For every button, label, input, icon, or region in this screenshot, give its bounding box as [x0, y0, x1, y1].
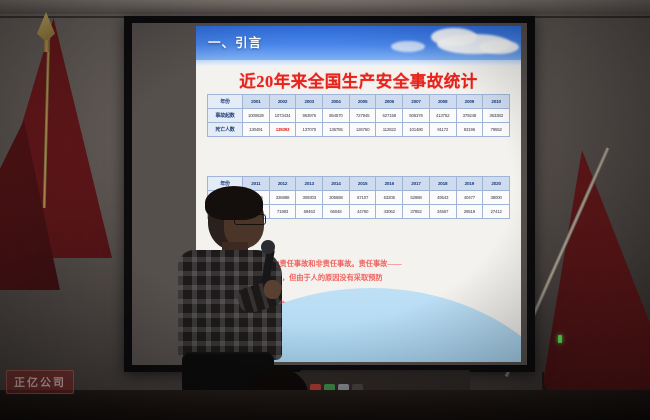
year-cell: 2015 — [349, 177, 376, 191]
slide-section-label: 一、引言 — [208, 32, 262, 51]
value-cell: 37852 — [403, 205, 430, 219]
value-cell: 66048 — [323, 205, 350, 219]
value-cell: 627158 — [376, 109, 403, 123]
presenter-speaker — [172, 188, 298, 388]
value-cell: 506376 — [403, 109, 430, 123]
value-cell: 136755 — [323, 123, 350, 137]
value-cell: 52988 — [403, 191, 430, 205]
value-cell: 1000629 — [243, 109, 270, 123]
value-cell: 854570 — [323, 109, 350, 123]
year-cell: 2013 — [296, 177, 323, 191]
year-cell: 2009 — [456, 95, 483, 109]
year-cell: 2008 — [429, 95, 456, 109]
value-cell: 137070 — [296, 123, 323, 137]
value-cell: 309303 — [296, 191, 323, 205]
value-cell: 29519 — [456, 205, 483, 219]
year-cell: 2001 — [243, 95, 270, 109]
row-header-deaths: 死亡人数 — [208, 123, 243, 137]
photo-scene: 一、引言 近20年来全国生产安全事故统计 年份 2001 2002 2003 2… — [0, 0, 650, 420]
ceiling-trim — [0, 0, 650, 14]
value-cell: 126760 — [349, 123, 376, 137]
value-cell: 130491 — [243, 123, 270, 137]
slide-header-band — [196, 60, 521, 66]
foreground-furniture — [0, 390, 650, 420]
value-cell: 44760 — [349, 205, 376, 219]
status-led-indicator — [558, 335, 562, 343]
value-cell: 34567 — [429, 205, 456, 219]
year-cell: 2005 — [349, 95, 376, 109]
value-cell: 83196 — [456, 123, 483, 137]
finial-collar — [43, 40, 50, 52]
year-cell: 2003 — [296, 95, 323, 109]
value-cell: 101480 — [403, 123, 430, 137]
year-cell: 2010 — [483, 95, 510, 109]
slide-title: 近20年来全国生产安全事故统计 — [196, 68, 521, 92]
cloud-icon — [479, 40, 519, 54]
presenter-hand — [264, 280, 281, 299]
year-cell: 2007 — [403, 95, 430, 109]
value-cell: 963976 — [296, 109, 323, 123]
value-cell: 79552 — [483, 123, 510, 137]
value-cell: 379248 — [456, 109, 483, 123]
table-row: 事故起数 1000629 1073434 963976 854570 72794… — [208, 109, 510, 123]
statistics-table-2001-2010: 年份 2001 2002 2003 2004 2005 2006 2007 20… — [207, 94, 510, 137]
microphone-capsule — [261, 240, 275, 254]
value-cell: 40477 — [456, 191, 483, 205]
year-cell: 2002 — [269, 95, 296, 109]
glasses-icon — [234, 214, 266, 225]
value-cell: 91172 — [429, 123, 456, 137]
value-cell: 27412 — [483, 205, 510, 219]
photo-watermark: 正亿公司 — [6, 370, 74, 394]
value-cell: 67107 — [349, 191, 376, 205]
value-cell: 363383 — [483, 109, 510, 123]
value-cell: 63205 — [376, 191, 403, 205]
row-header-accidents: 事故起数 — [208, 109, 243, 123]
value-cell: 1073434 — [269, 109, 296, 123]
year-cell: 2019 — [456, 177, 483, 191]
cloud-icon — [391, 41, 425, 52]
year-cell: 2004 — [323, 95, 350, 109]
year-cell: 2017 — [403, 177, 430, 191]
value-cell-highlighted: 139393 — [269, 123, 296, 137]
value-cell: 305688 — [323, 191, 350, 205]
value-cell: 38000 — [483, 191, 510, 205]
value-cell: 49543 — [429, 191, 456, 205]
year-cell: 2014 — [323, 177, 350, 191]
value-cell: 112822 — [376, 123, 403, 137]
value-cell: 727945 — [349, 109, 376, 123]
value-cell: 69453 — [296, 205, 323, 219]
table-row: 死亡人数 130491 139393 137070 136755 126760 … — [208, 123, 510, 137]
value-cell: 43062 — [376, 205, 403, 219]
year-cell: 2016 — [376, 177, 403, 191]
cloud-icon — [431, 28, 477, 46]
value-cell: 413752 — [429, 109, 456, 123]
year-cell: 2020 — [483, 177, 510, 191]
row-header-year: 年份 — [208, 95, 243, 109]
year-cell: 2006 — [376, 95, 403, 109]
year-cell: 2018 — [429, 177, 456, 191]
table-row: 年份 2001 2002 2003 2004 2005 2006 2007 20… — [208, 95, 510, 109]
